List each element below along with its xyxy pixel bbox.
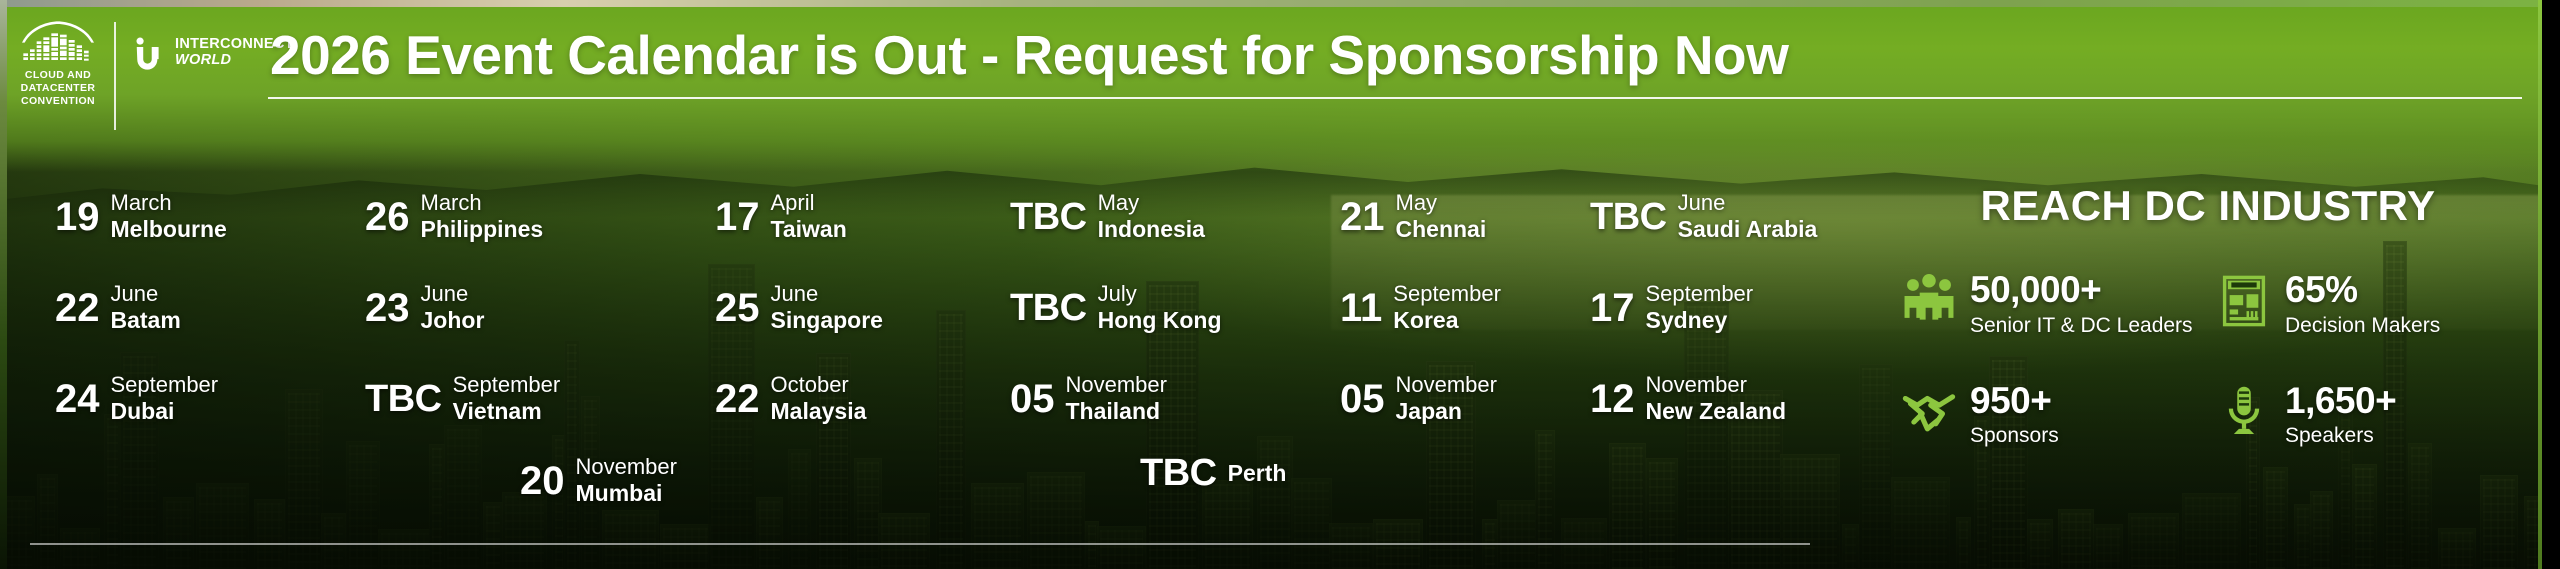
event-day: 20 bbox=[520, 461, 565, 501]
calendar-event[interactable]: 11SeptemberKorea bbox=[1340, 281, 1501, 334]
event-day: 05 bbox=[1340, 379, 1385, 419]
calendar-event[interactable]: 22JuneBatam bbox=[55, 281, 181, 334]
event-city: Thailand bbox=[1066, 398, 1167, 425]
event-meta: SeptemberSydney bbox=[1646, 281, 1754, 334]
event-day: TBC bbox=[1590, 198, 1667, 236]
datacenter-building-icon bbox=[18, 20, 98, 64]
stat-text: 1,650+Speakers bbox=[2285, 381, 2396, 448]
event-city: Chennai bbox=[1396, 216, 1487, 243]
event-meta: MarchPhilippines bbox=[421, 190, 544, 243]
event-meta: MarchMelbourne bbox=[111, 190, 227, 243]
event-day: 25 bbox=[715, 288, 760, 328]
event-meta: JuneJohor bbox=[421, 281, 485, 334]
event-meta: NovemberThailand bbox=[1066, 372, 1167, 425]
calendar-event[interactable]: 24SeptemberDubai bbox=[55, 372, 218, 425]
event-month: October bbox=[771, 372, 867, 398]
event-meta: NovemberMumbai bbox=[576, 454, 677, 507]
event-city: Hong Kong bbox=[1098, 307, 1222, 334]
header-rule bbox=[268, 97, 2522, 99]
calendar-event[interactable]: 22OctoberMalaysia bbox=[715, 372, 866, 425]
event-day: 05 bbox=[1010, 379, 1055, 419]
event-calendar-grid: 19MarchMelbourne26MarchPhilippines17Apri… bbox=[0, 178, 1830, 558]
stats-title: REACH DC INDUSTRY bbox=[1902, 182, 2514, 230]
page-title: 2026 Event Calendar is Out - Request for… bbox=[270, 26, 2522, 84]
stat-item: 50,000+Senior IT & DC Leaders bbox=[1902, 270, 2199, 337]
event-meta: OctoberMalaysia bbox=[771, 372, 867, 425]
logo-lockup[interactable]: CLOUD AND DATACENTER CONVENTION INTERCON… bbox=[18, 20, 294, 130]
event-meta: SeptemberDubai bbox=[111, 372, 219, 425]
stat-label: Decision Makers bbox=[2285, 314, 2440, 337]
event-month: September bbox=[1646, 281, 1754, 307]
iw-monogram-icon bbox=[132, 36, 166, 70]
event-city: Indonesia bbox=[1098, 216, 1205, 243]
event-meta: JuneBatam bbox=[111, 281, 181, 334]
event-month: June bbox=[1678, 190, 1818, 216]
banner-header: CLOUD AND DATACENTER CONVENTION INTERCON… bbox=[0, 0, 2560, 172]
event-month: June bbox=[111, 281, 181, 307]
stats-grid: 50,000+Senior IT & DC Leaders65%Decision… bbox=[1902, 270, 2514, 448]
calendar-event[interactable]: 20NovemberMumbai bbox=[520, 454, 677, 507]
calendar-row: 20NovemberMumbaiTBCPerth bbox=[0, 454, 1830, 516]
event-city: Vietnam bbox=[453, 398, 561, 425]
event-meta: JulyHong Kong bbox=[1098, 281, 1222, 334]
event-day: 23 bbox=[365, 288, 410, 328]
event-month: March bbox=[111, 190, 227, 216]
calendar-event[interactable]: 23JuneJohor bbox=[365, 281, 484, 334]
event-day: 24 bbox=[55, 379, 100, 419]
event-day: 22 bbox=[715, 379, 760, 419]
cloud-and-datacenter-convention-logo[interactable]: CLOUD AND DATACENTER CONVENTION bbox=[18, 20, 98, 107]
event-meta: SeptemberKorea bbox=[1393, 281, 1501, 334]
stat-number: 1,650+ bbox=[2285, 381, 2396, 422]
event-month: May bbox=[1396, 190, 1487, 216]
stat-item: 65%Decision Makers bbox=[2217, 270, 2514, 337]
footer-rule bbox=[30, 543, 1810, 545]
people-group-icon bbox=[1902, 274, 1956, 332]
event-meta: SeptemberVietnam bbox=[453, 372, 561, 425]
cdc-logo-line-1: CLOUD AND bbox=[18, 69, 98, 82]
event-city: Taiwan bbox=[771, 216, 847, 243]
stat-number: 50,000+ bbox=[1970, 270, 2193, 311]
event-month: September bbox=[111, 372, 219, 398]
event-day: TBC bbox=[1140, 454, 1217, 492]
stat-item: 1,650+Speakers bbox=[2217, 381, 2514, 448]
event-meta: MayChennai bbox=[1396, 190, 1487, 243]
calendar-event[interactable]: 17SeptemberSydney bbox=[1590, 281, 1753, 334]
event-city: Perth bbox=[1228, 460, 1287, 487]
event-day: 11 bbox=[1340, 288, 1382, 328]
event-city: Johor bbox=[421, 307, 485, 334]
event-day: 17 bbox=[715, 197, 760, 237]
event-month: September bbox=[453, 372, 561, 398]
handshake-icon bbox=[1902, 385, 1956, 443]
event-month: March bbox=[421, 190, 544, 216]
event-meta: NovemberNew Zealand bbox=[1646, 372, 1787, 425]
event-meta: AprilTaiwan bbox=[771, 190, 847, 243]
stat-text: 950+Sponsors bbox=[1970, 381, 2059, 448]
event-city: Melbourne bbox=[111, 216, 227, 243]
event-meta: JuneSingapore bbox=[771, 281, 883, 334]
calendar-event[interactable]: TBCPerth bbox=[1140, 454, 1286, 492]
event-city: Sydney bbox=[1646, 307, 1754, 334]
stat-label: Senior IT & DC Leaders bbox=[1970, 314, 2193, 337]
event-city: Korea bbox=[1393, 307, 1501, 334]
calendar-event[interactable]: 25JuneSingapore bbox=[715, 281, 883, 334]
event-city: New Zealand bbox=[1646, 398, 1787, 425]
event-city: Japan bbox=[1396, 398, 1497, 425]
event-city: Mumbai bbox=[576, 480, 677, 507]
stat-text: 65%Decision Makers bbox=[2285, 270, 2440, 337]
event-day: TBC bbox=[1010, 289, 1087, 327]
calendar-row: 19MarchMelbourne26MarchPhilippines17Apri… bbox=[0, 190, 1830, 252]
calendar-event[interactable]: 26MarchPhilippines bbox=[365, 190, 543, 243]
event-month: September bbox=[1393, 281, 1501, 307]
stat-label: Sponsors bbox=[1970, 424, 2059, 447]
calendar-event[interactable]: TBCJuneSaudi Arabia bbox=[1590, 190, 1817, 243]
calendar-event[interactable]: 19MarchMelbourne bbox=[55, 190, 227, 243]
event-month: November bbox=[1646, 372, 1787, 398]
calendar-event[interactable]: 05NovemberThailand bbox=[1010, 372, 1167, 425]
event-day: 17 bbox=[1590, 288, 1635, 328]
event-day: 26 bbox=[365, 197, 410, 237]
event-month: June bbox=[771, 281, 883, 307]
left-edge-strip bbox=[0, 0, 7, 569]
cdc-logo-line-3: CONVENTION bbox=[18, 95, 98, 108]
stat-label: Speakers bbox=[2285, 424, 2396, 447]
top-edge-strip bbox=[0, 0, 2560, 7]
event-day: 12 bbox=[1590, 379, 1635, 419]
event-month: June bbox=[421, 281, 485, 307]
event-day: 21 bbox=[1340, 197, 1385, 237]
calendar-event[interactable]: 21MayChennai bbox=[1340, 190, 1486, 243]
calendar-row: 22JuneBatam23JuneJohor25JuneSingaporeTBC… bbox=[0, 281, 1830, 343]
calendar-event[interactable]: 12NovemberNew Zealand bbox=[1590, 372, 1786, 425]
event-city: Philippines bbox=[421, 216, 544, 243]
calendar-event[interactable]: 05NovemberJapan bbox=[1340, 372, 1497, 425]
event-month: November bbox=[1396, 372, 1497, 398]
event-month: April bbox=[771, 190, 847, 216]
stat-number: 950+ bbox=[1970, 381, 2059, 422]
event-city: Singapore bbox=[771, 307, 883, 334]
event-meta: NovemberJapan bbox=[1396, 372, 1497, 425]
right-edge-strip bbox=[2538, 0, 2560, 569]
stat-text: 50,000+Senior IT & DC Leaders bbox=[1970, 270, 2193, 337]
event-meta: MayIndonesia bbox=[1098, 190, 1205, 243]
event-city: Malaysia bbox=[771, 398, 867, 425]
event-city: Batam bbox=[111, 307, 181, 334]
event-day: TBC bbox=[1010, 198, 1087, 236]
event-day: 19 bbox=[55, 197, 100, 237]
stat-number: 65% bbox=[2285, 270, 2440, 311]
event-city: Saudi Arabia bbox=[1678, 216, 1818, 243]
calendar-event[interactable]: TBCSeptemberVietnam bbox=[365, 372, 560, 425]
event-month: November bbox=[1066, 372, 1167, 398]
event-month: May bbox=[1098, 190, 1205, 216]
logo-divider bbox=[114, 22, 116, 130]
stat-item: 950+Sponsors bbox=[1902, 381, 2199, 448]
server-rack-icon bbox=[2217, 274, 2271, 332]
event-calendar-banner: CLOUD AND DATACENTER CONVENTION INTERCON… bbox=[0, 0, 2560, 569]
event-month: July bbox=[1098, 281, 1222, 307]
event-city: Dubai bbox=[111, 398, 219, 425]
event-meta: JuneSaudi Arabia bbox=[1678, 190, 1818, 243]
calendar-event[interactable]: 17AprilTaiwan bbox=[715, 190, 847, 243]
calendar-row: 24SeptemberDubaiTBCSeptemberVietnam22Oct… bbox=[0, 372, 1830, 434]
calendar-event[interactable]: TBCMayIndonesia bbox=[1010, 190, 1205, 243]
microphone-icon bbox=[2217, 385, 2271, 443]
event-day: TBC bbox=[365, 380, 442, 418]
event-day: 22 bbox=[55, 288, 100, 328]
calendar-event[interactable]: TBCJulyHong Kong bbox=[1010, 281, 1222, 334]
cdc-logo-line-2: DATACENTER bbox=[18, 82, 98, 95]
reach-stats-panel: REACH DC INDUSTRY 50,000+Senior IT & DC … bbox=[1902, 182, 2514, 512]
event-month: November bbox=[576, 454, 677, 480]
